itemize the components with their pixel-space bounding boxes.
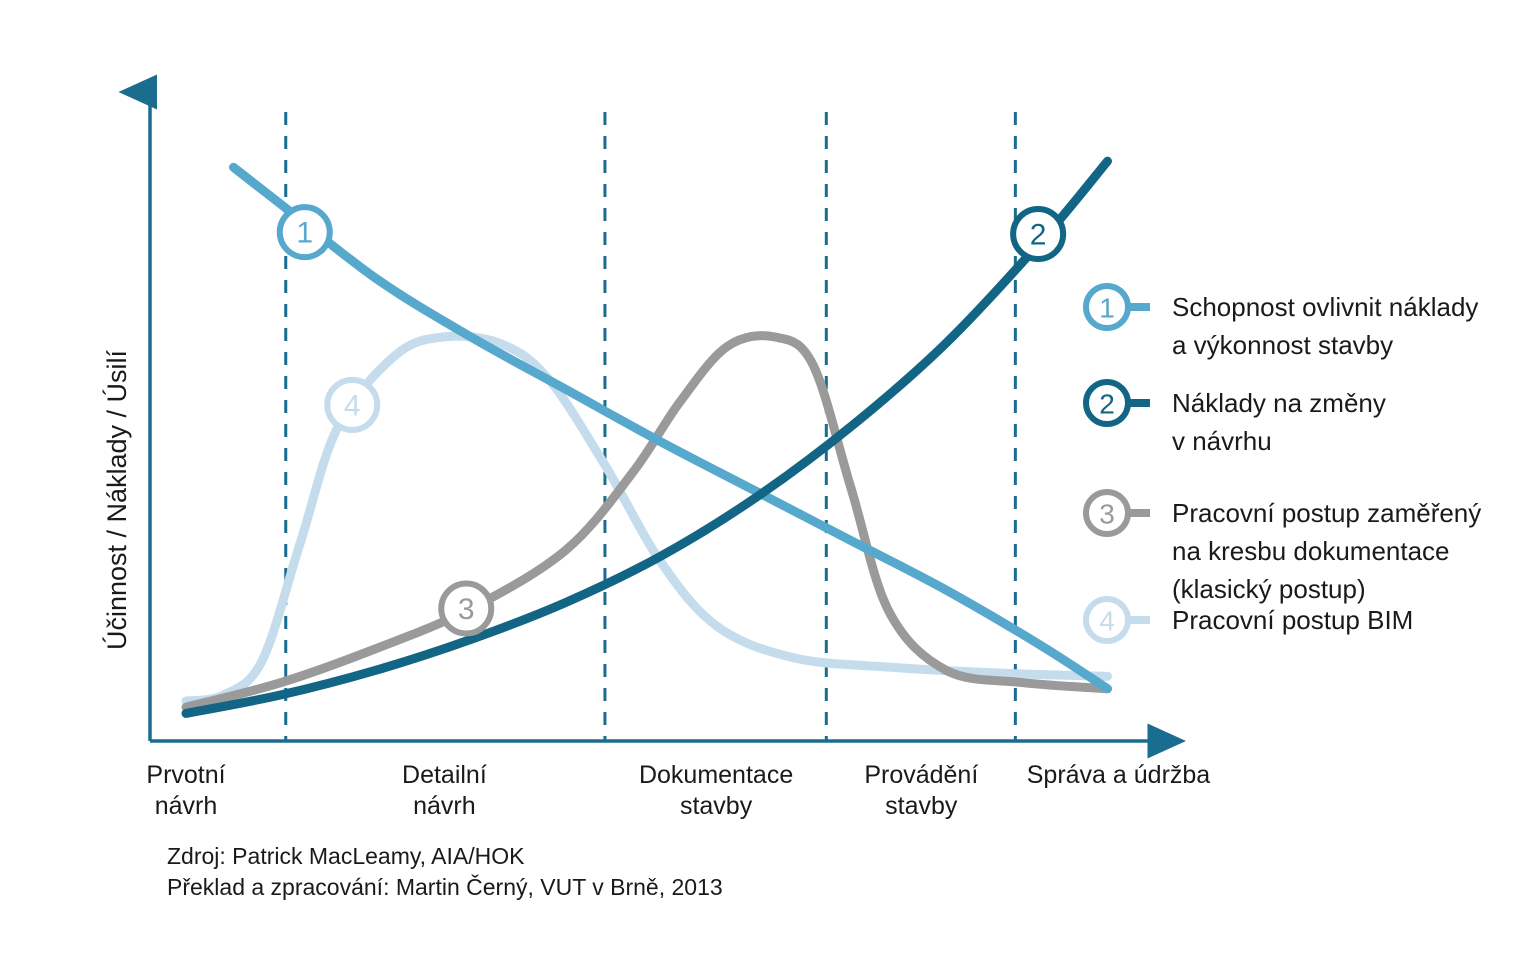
y-axis-label: Účinnost / Náklady / Úsilí xyxy=(101,349,132,650)
legend-label-line: Pracovní postup BIM xyxy=(1172,605,1413,635)
legend-label-line: na kresbu dokumentace xyxy=(1172,536,1450,566)
x-tick-label-line2: stavby xyxy=(885,792,958,820)
curve-marker-1: 1 xyxy=(280,207,330,257)
macleamy-curve-chart: Účinnost / Náklady / Úsilí 1234 Prvotnín… xyxy=(0,0,1540,974)
marker-number-label: 2 xyxy=(1030,218,1047,251)
marker-number-label: 4 xyxy=(344,389,361,422)
x-tick-label-line1: Dokumentace xyxy=(639,761,793,789)
curve-marker-4: 4 xyxy=(327,380,377,430)
curve-marker-3: 3 xyxy=(441,584,491,634)
x-tick-label-line1: Provádění xyxy=(864,761,978,789)
curve-marker-2: 2 xyxy=(1013,209,1063,259)
legend-label-line: v návrhu xyxy=(1172,426,1272,456)
marker-number-label: 3 xyxy=(458,593,475,626)
x-tick-label-line1: Správa a údržba xyxy=(1027,761,1211,789)
x-tick-label-line2: návrh xyxy=(413,792,476,820)
legend-label-line: (klasický postup) xyxy=(1172,574,1366,604)
source-line-1: Zdroj: Patrick MacLeamy, AIA/HOK xyxy=(167,843,525,869)
legend-number-label: 3 xyxy=(1099,499,1115,530)
legend-label-line: Pracovní postup zaměřený xyxy=(1172,498,1481,528)
legend-number-label: 4 xyxy=(1099,606,1115,637)
x-tick-label-line2: stavby xyxy=(680,792,753,820)
marker-number-label: 1 xyxy=(296,217,313,250)
x-tick-label-line1: Detailní xyxy=(402,761,487,789)
legend-label-line: Schopnost ovlivnit náklady xyxy=(1172,292,1478,322)
x-tick-label-5: Správa a údržba xyxy=(1027,761,1211,789)
legend-label-line: a výkonnost stavby xyxy=(1172,330,1393,360)
legend-label-line: Náklady na změny xyxy=(1172,388,1386,418)
x-tick-label-line1: Prvotní xyxy=(146,761,225,789)
x-tick-label-line2: návrh xyxy=(155,792,218,820)
chart-root: Účinnost / Náklady / Úsilí 1234 Prvotnín… xyxy=(0,0,1540,974)
source-line-2: Překlad a zpracování: Martin Černý, VUT … xyxy=(167,873,723,900)
legend-number-label: 1 xyxy=(1099,293,1115,324)
legend-number-label: 2 xyxy=(1099,389,1115,420)
